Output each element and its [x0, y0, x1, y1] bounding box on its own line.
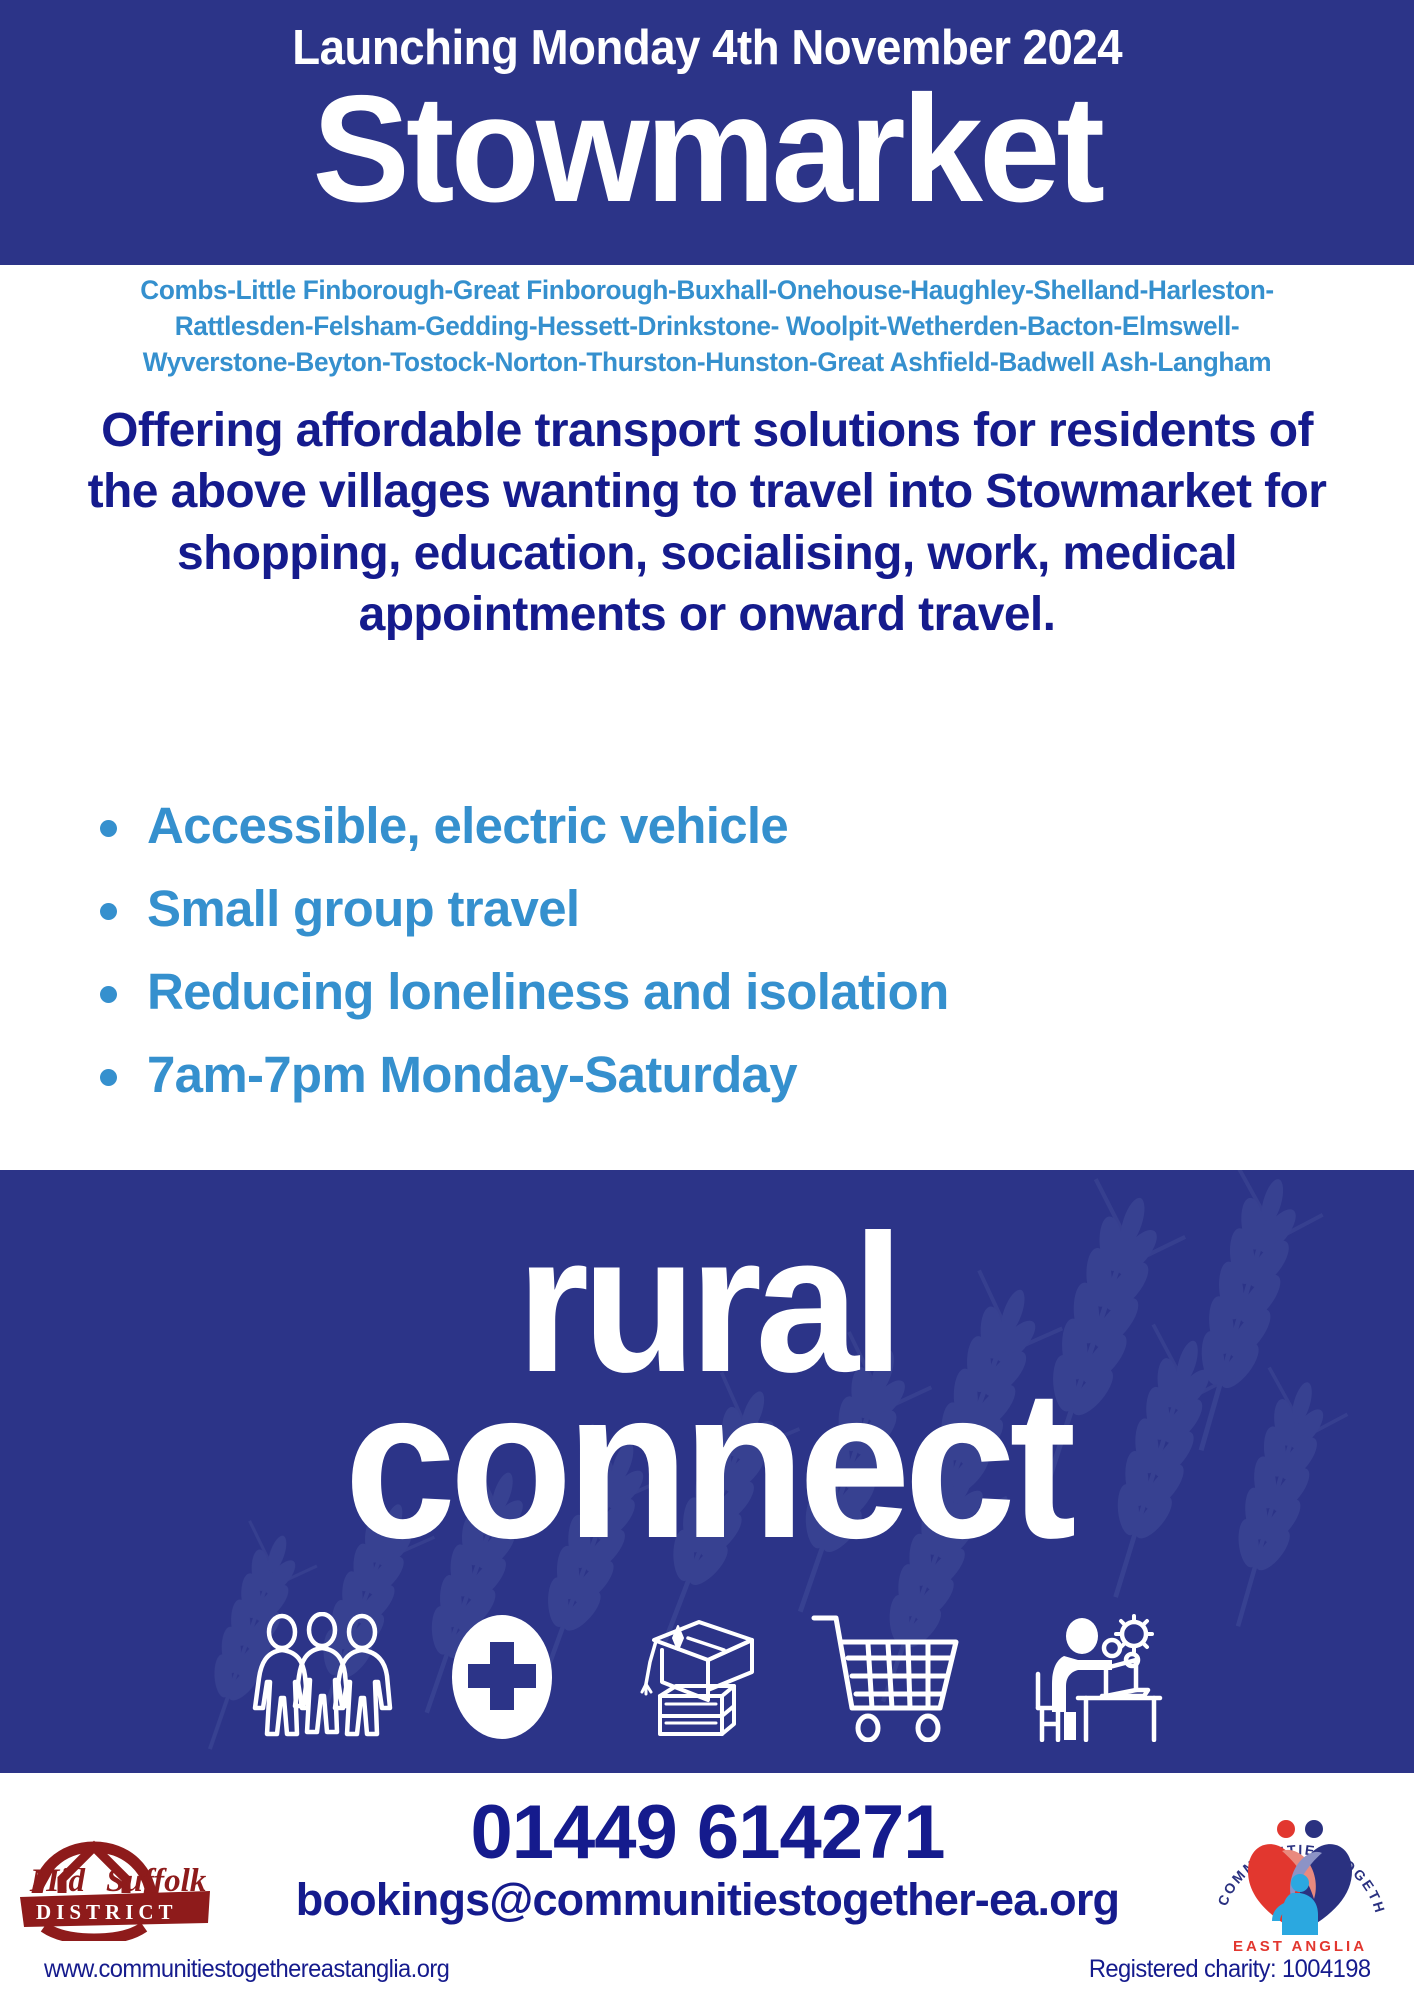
brand-wordmark: rural connect [0, 1170, 1414, 1773]
brand-line-connect: connect [35, 1358, 1378, 1570]
east-anglia-wordmark: EAST ANGLIA [1233, 1938, 1367, 1953]
bullet-dot-icon [100, 986, 117, 1003]
logo-dot-red [1277, 1820, 1295, 1838]
village-list-line-2: Rattlesden-Felsham-Gedding-Hessett-Drink… [21, 308, 1393, 344]
shopping-cart-icon [810, 1612, 970, 1742]
bullet-dot-icon [100, 820, 117, 837]
service-icon-row [0, 1610, 1414, 1742]
poster-root: Launching Monday 4th November 2024 Stowm… [0, 0, 1414, 2000]
graduation-books-icon [604, 1610, 764, 1742]
village-list-line-3: Wyverstone-Beyton-Tostock-Norton-Thursto… [21, 344, 1393, 380]
footer-meta-line: www.communitiestogethereastanglia.org Re… [0, 1955, 1414, 1984]
bullet-label: Small group travel [147, 883, 579, 934]
list-item: Reducing loneliness and isolation [100, 966, 1414, 1017]
rural-connect-panel: rural connect [0, 1170, 1414, 1773]
poster-footer: Mid Suffolk DISTRICT 01449 614271 bookin… [0, 1773, 1414, 2000]
bullet-dot-icon [100, 903, 117, 920]
village-list-line-1: Combs-Little Finborough-Great Finborough… [21, 272, 1393, 308]
people-group-icon [250, 1612, 400, 1742]
mid-suffolk-wordmark: Mid [29, 1863, 86, 1899]
list-item: Small group travel [100, 883, 1414, 934]
communities-together-east-anglia-logo: COMMUNITIES TOGETHER EAST ANGLIA [1204, 1803, 1396, 1953]
email-address[interactable]: bookings@communitiestogether-ea.org [225, 1875, 1190, 1925]
phone-number[interactable]: 01449 614271 [225, 1793, 1190, 1873]
list-item: Accessible, electric vehicle [100, 800, 1414, 851]
person-at-desk-icon [1016, 1612, 1164, 1742]
list-item: 7am-7pm Monday-Saturday [100, 1049, 1414, 1100]
bullet-label: 7am-7pm Monday-Saturday [147, 1049, 797, 1100]
intro-paragraph: Offering affordable transport solutions … [0, 400, 1414, 646]
feature-bullet-list: Accessible, electric vehicle Small group… [0, 800, 1414, 1132]
bullet-label: Reducing loneliness and isolation [147, 966, 949, 1017]
mid-suffolk-district-logo: Mid Suffolk DISTRICT [14, 1835, 214, 1941]
charity-number: Registered charity: 1004198 [1088, 1955, 1370, 1984]
medical-cross-icon [446, 1612, 558, 1742]
page-title: Stowmarket [313, 77, 1102, 221]
bullet-label: Accessible, electric vehicle [147, 800, 788, 851]
logo-dot-navy [1305, 1820, 1323, 1838]
website-url[interactable]: www.communitiestogethereastanglia.org [44, 1955, 449, 1984]
bullet-dot-icon [100, 1069, 117, 1086]
village-list: Combs-Little Finborough-Great Finborough… [7, 272, 1407, 380]
contact-block: 01449 614271 bookings@communitiestogethe… [225, 1793, 1190, 1924]
district-wordmark: DISTRICT [36, 1900, 178, 1924]
poster-header: Launching Monday 4th November 2024 Stowm… [0, 0, 1414, 265]
